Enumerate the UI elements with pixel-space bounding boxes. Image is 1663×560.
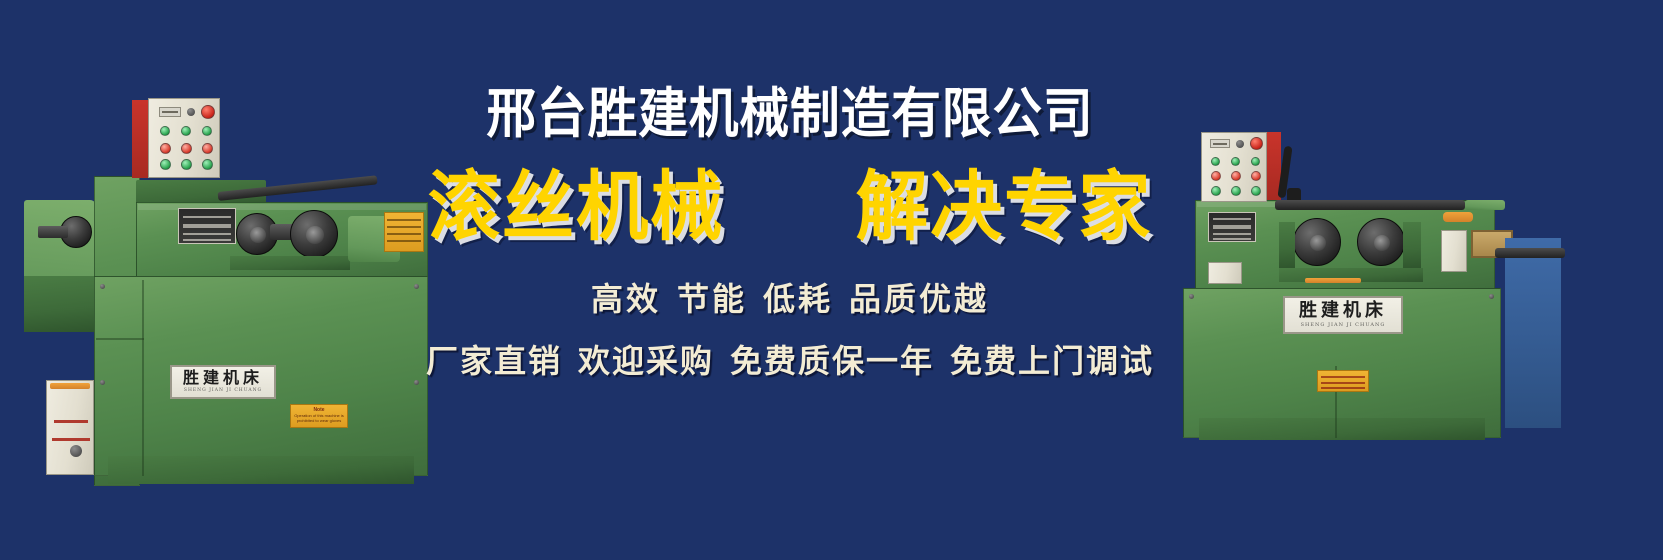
machine-right-control-panel [1201, 132, 1267, 202]
machine-right-hydraulic-unit [1441, 230, 1467, 272]
machine-right-emergency-stop-button[interactable] [1250, 137, 1263, 150]
headline-right: 解决专家 [856, 165, 1152, 249]
machine-right-image: 胜建机床 SHENG JIAN JI CHUANG [1175, 118, 1645, 458]
machine-right-button-green-3[interactable] [1251, 186, 1261, 196]
machine-right-roller-slide-right [1403, 222, 1421, 268]
machine-left-cabinet-knob [70, 445, 82, 457]
machine-right-button-green-1[interactable] [1211, 186, 1221, 196]
machine-right-spec-plate [1208, 212, 1256, 242]
machine-right-outfeed-unit [1505, 238, 1561, 428]
promotional-banner: 胜建机床 SHENG JIAN JI CHUANG Note Operation… [0, 0, 1663, 560]
machine-left-button-red-3[interactable] [202, 143, 213, 154]
machine-left-lower-body-base [108, 456, 414, 484]
machine-left-led-green-3 [202, 126, 212, 136]
machine-right-button-red-2[interactable] [1231, 171, 1241, 181]
subtitle2-item-1: 欢迎采购 [578, 342, 714, 380]
machine-left-bolt-2 [100, 380, 105, 385]
headline-row: 滚丝机械 解决专家 [380, 165, 1200, 249]
machine-left-cabinet-strip [50, 383, 90, 389]
machine-left-emergency-stop-button[interactable] [201, 105, 215, 119]
machine-right-small-plate [1208, 262, 1242, 284]
subtitle2-item-0: 厂家直销 [426, 342, 562, 380]
machine-left-nameplate-en: SHENG JIAN JI CHUANG [184, 389, 262, 394]
machine-left-roller-2 [290, 210, 338, 258]
machine-left-cabinet-text2 [52, 438, 90, 441]
machine-left-spec-plate [178, 208, 236, 244]
machine-left-button-red-1[interactable] [160, 143, 171, 154]
machine-left-button-green-1[interactable] [160, 159, 171, 170]
machine-right-led-green-2 [1231, 157, 1240, 166]
machine-right-led-green-3 [1251, 157, 1260, 166]
banner-text-block: 邢台胜建机械制造有限公司 滚丝机械 解决专家 高效节能低耗品质优越 厂家直销欢迎… [380, 86, 1200, 446]
machine-right-nameplate-cn: 胜建机床 [1299, 302, 1387, 320]
machine-left-button-green-3[interactable] [202, 159, 213, 170]
machine-right-led-green-1 [1211, 157, 1220, 166]
machine-left-image: 胜建机床 SHENG JIAN JI CHUANG Note Operation… [18, 80, 428, 490]
machine-left-led-green-1 [160, 126, 170, 136]
machine-left-body-seam-2 [96, 338, 144, 340]
machine-right-button-red-1[interactable] [1211, 171, 1221, 181]
machine-right-roller-1 [1293, 218, 1341, 266]
machine-left-nameplate-cn: 胜建机床 [183, 370, 263, 386]
machine-right-button-red-3[interactable] [1251, 171, 1261, 181]
machine-right-roller-2 [1357, 218, 1405, 266]
machine-right-lower-body-base [1199, 418, 1485, 440]
machine-right-panel-meter [1210, 139, 1230, 148]
machine-right-tool-table [1465, 200, 1505, 210]
subtitle2-item-2: 免费质保一年 [730, 342, 934, 380]
machine-left-warning-text: Operation of this machine is prohibited … [291, 413, 347, 424]
subtitle1-item-1: 节能 [677, 280, 747, 318]
machine-right-roller-slide-left [1279, 222, 1295, 268]
machine-left-panel-meter [159, 107, 181, 117]
subtitle-line-1: 高效节能低耗品质优越 [380, 274, 1200, 320]
machine-right-button-green-2[interactable] [1231, 186, 1241, 196]
machine-left-button-green-2[interactable] [181, 159, 192, 170]
machine-left-bolt-1 [100, 284, 105, 289]
machine-left-led-green-2 [181, 126, 191, 136]
machine-right-base-strip [1305, 278, 1361, 283]
headline-left: 滚丝机械 [428, 165, 724, 249]
machine-left-roller-base [230, 256, 350, 270]
machine-left-panel-selector-knob [187, 108, 195, 116]
machine-right-outfeed-rail [1495, 248, 1565, 258]
subtitle1-item-3: 品质优越 [849, 280, 989, 318]
machine-right-top-rail [1275, 200, 1465, 210]
machine-left-electric-cabinet [46, 380, 94, 475]
machine-left-button-red-2[interactable] [181, 143, 192, 154]
machine-left-spindle-shaft [38, 226, 68, 238]
machine-right-terminal-block [1443, 212, 1473, 222]
machine-right-nameplate-en: SHENG JIAN JI CHUANG [1301, 323, 1386, 328]
subtitle-line-2: 厂家直销欢迎采购免费质保一年免费上门调试 [380, 336, 1200, 382]
machine-left-nameplate: 胜建机床 SHENG JIAN JI CHUANG [170, 365, 276, 399]
machine-left-cabinet-text [54, 420, 88, 423]
machine-right-warning-label [1317, 370, 1369, 392]
machine-left-control-panel [148, 98, 220, 178]
machine-left-body-seam-1 [142, 280, 144, 476]
machine-left-headstock-shadow [24, 276, 96, 332]
company-name: 邢台胜建机械制造有限公司 [413, 86, 1167, 143]
machine-right-nameplate: 胜建机床 SHENG JIAN JI CHUANG [1283, 296, 1403, 334]
machine-right-bolt-2 [1489, 294, 1494, 299]
machine-right-panel-selector-knob [1236, 140, 1244, 148]
machine-left-warning-label: Note Operation of this machine is prohib… [290, 404, 348, 428]
subtitle1-item-0: 高效 [591, 280, 661, 318]
subtitle2-item-3: 免费上门调试 [950, 342, 1154, 380]
subtitle1-item-2: 低耗 [763, 280, 833, 318]
